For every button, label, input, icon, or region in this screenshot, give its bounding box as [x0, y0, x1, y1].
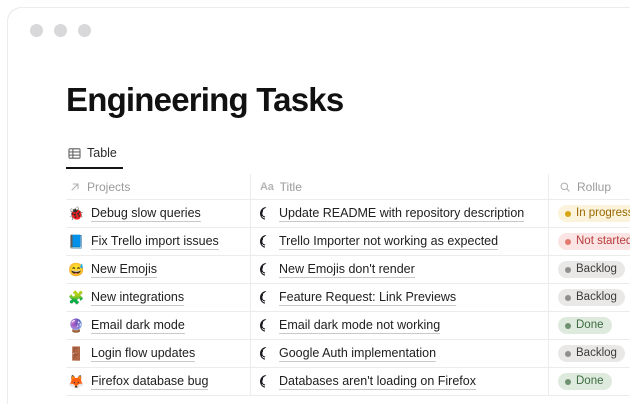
github-icon — [260, 207, 273, 220]
status-badge-label: Backlog — [576, 348, 617, 360]
status-dot-icon — [565, 295, 571, 301]
notion-window-card: Engineering Tasks Table — [8, 8, 630, 404]
cell-projects[interactable]: 🦊Firefox database bug — [66, 368, 251, 395]
github-icon — [260, 375, 273, 388]
status-badge-label: In progress — [576, 208, 630, 220]
title-link[interactable]: Trello Importer not working as expected — [279, 233, 498, 251]
blue-book-emoji: 📘 — [68, 235, 85, 248]
status-badge: Done — [558, 317, 612, 334]
table-row[interactable]: 📘Fix Trello import issuesTrello Importer… — [66, 228, 630, 256]
cell-rollup[interactable]: Backlog — [549, 284, 630, 311]
title-link[interactable]: Email dark mode not working — [279, 317, 440, 335]
project-relation-link[interactable]: Email dark mode — [91, 317, 185, 335]
cell-title[interactable]: Feature Request: Link Previews — [251, 284, 549, 311]
view-tab-bar: Table — [66, 144, 123, 169]
column-header-title-label: Title — [280, 180, 302, 194]
table-row[interactable]: 😅New EmojisNew Emojis don't renderBacklo… — [66, 256, 630, 284]
relation-arrow-icon — [68, 180, 81, 193]
github-icon — [260, 263, 273, 276]
cell-rollup[interactable]: Done — [549, 312, 630, 339]
cell-title[interactable]: Email dark mode not working — [251, 312, 549, 339]
status-badge: Backlog — [558, 261, 625, 278]
cell-rollup[interactable]: Backlog — [549, 340, 630, 367]
cell-projects[interactable]: 🐞Debug slow queries — [66, 200, 251, 227]
tasks-table: Projects Aa Title Rollup 🐞Debug — [66, 174, 630, 396]
status-badge: Backlog — [558, 345, 625, 362]
github-icon — [260, 291, 273, 304]
table-row[interactable]: 🧩New integrationsFeature Request: Link P… — [66, 284, 630, 312]
status-badge: Done — [558, 373, 612, 390]
status-dot-icon — [565, 323, 571, 329]
cell-projects[interactable]: 🚪Login flow updates — [66, 340, 251, 367]
window-dot-red[interactable] — [30, 24, 43, 37]
cell-rollup[interactable]: Not started — [549, 228, 630, 255]
table-row[interactable]: 🚪Login flow updatesGoogle Auth implement… — [66, 340, 630, 368]
table-row[interactable]: 🦊Firefox database bugDatabases aren't lo… — [66, 368, 630, 396]
status-badge-label: Done — [576, 376, 604, 388]
search-icon — [558, 180, 571, 193]
cell-title[interactable]: Google Auth implementation — [251, 340, 549, 367]
status-badge-label: Backlog — [576, 264, 617, 276]
status-dot-icon — [565, 351, 571, 357]
crystal-ball-emoji: 🔮 — [68, 319, 85, 332]
text-aa-icon: Aa — [260, 181, 274, 193]
tab-table-label: Table — [87, 146, 117, 160]
github-icon — [260, 235, 273, 248]
column-header-projects[interactable]: Projects — [66, 174, 251, 199]
project-relation-link[interactable]: Firefox database bug — [91, 373, 208, 391]
project-relation-link[interactable]: New integrations — [91, 289, 184, 307]
column-header-rollup-label: Rollup — [577, 180, 611, 194]
title-link[interactable]: Google Auth implementation — [279, 345, 436, 363]
cell-rollup[interactable]: Done — [549, 368, 630, 395]
title-link[interactable]: Databases aren't loading on Firefox — [279, 373, 476, 391]
app-root: Engineering Tasks Table — [0, 0, 630, 404]
table-header-row: Projects Aa Title Rollup — [66, 174, 630, 200]
status-dot-icon — [565, 211, 571, 217]
status-badge: Backlog — [558, 289, 625, 306]
table-row[interactable]: 🔮Email dark modeEmail dark mode not work… — [66, 312, 630, 340]
status-dot-icon — [565, 379, 571, 385]
window-titlebar — [8, 8, 630, 52]
table-body: 🐞Debug slow queriesUpdate README with re… — [66, 200, 630, 396]
window-dot-green[interactable] — [78, 24, 91, 37]
title-link[interactable]: Feature Request: Link Previews — [279, 289, 456, 307]
grinning-sweat-emoji: 😅 — [68, 263, 85, 276]
status-badge: In progress — [558, 205, 630, 222]
cell-projects[interactable]: 😅New Emojis — [66, 256, 251, 283]
table-icon — [68, 147, 81, 160]
status-dot-icon — [565, 267, 571, 273]
title-link[interactable]: Update README with repository descriptio… — [279, 205, 524, 223]
column-header-title[interactable]: Aa Title — [251, 174, 549, 199]
title-link[interactable]: New Emojis don't render — [279, 261, 415, 279]
cell-title[interactable]: New Emojis don't render — [251, 256, 549, 283]
project-relation-link[interactable]: Login flow updates — [91, 345, 195, 363]
window-dot-yellow[interactable] — [54, 24, 67, 37]
cell-projects[interactable]: 🧩New integrations — [66, 284, 251, 311]
github-icon — [260, 347, 273, 360]
column-header-projects-label: Projects — [87, 180, 130, 194]
cell-title[interactable]: Databases aren't loading on Firefox — [251, 368, 549, 395]
page-title: Engineering Tasks — [66, 80, 343, 120]
status-dot-icon — [565, 239, 571, 245]
fox-emoji: 🦊 — [68, 375, 85, 388]
cell-title[interactable]: Update README with repository descriptio… — [251, 200, 549, 227]
cell-title[interactable]: Trello Importer not working as expected — [251, 228, 549, 255]
project-relation-link[interactable]: Fix Trello import issues — [91, 233, 219, 251]
ladybug-emoji: 🐞 — [68, 207, 85, 220]
door-emoji: 🚪 — [68, 347, 85, 360]
tab-table[interactable]: Table — [66, 144, 123, 169]
status-badge: Not started — [558, 233, 630, 250]
table-row[interactable]: 🐞Debug slow queriesUpdate README with re… — [66, 200, 630, 228]
project-relation-link[interactable]: Debug slow queries — [91, 205, 201, 223]
cell-rollup[interactable]: Backlog — [549, 256, 630, 283]
github-icon — [260, 319, 273, 332]
status-badge-label: Not started — [576, 236, 630, 248]
cell-projects[interactable]: 🔮Email dark mode — [66, 312, 251, 339]
cell-projects[interactable]: 📘Fix Trello import issues — [66, 228, 251, 255]
status-badge-label: Backlog — [576, 292, 617, 304]
puzzle-piece-emoji: 🧩 — [68, 291, 85, 304]
status-badge-label: Done — [576, 320, 604, 332]
column-header-rollup[interactable]: Rollup — [549, 174, 630, 199]
project-relation-link[interactable]: New Emojis — [91, 261, 157, 279]
cell-rollup[interactable]: In progress — [549, 200, 630, 227]
